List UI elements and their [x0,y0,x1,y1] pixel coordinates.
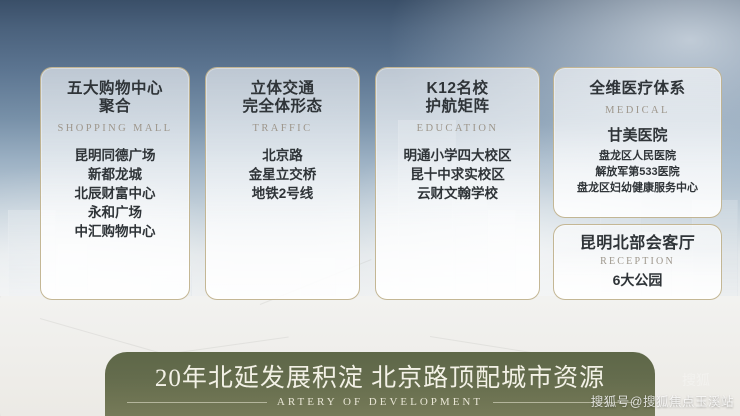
banner-headline: 20年北延发展积淀 北京路顶配城市资源 [105,358,655,394]
card-item-list: 明通小学四大校区 昆十中求实校区 云财文翰学校 [384,146,531,203]
card-item-list: 盘龙区人民医院 解放军第533医院 盘龙区妇幼健康服务中心 [562,148,713,196]
banner-subline: ARTERY OF DEVELOPMENT [277,396,483,408]
card-traffic[interactable]: 立体交通 完全体形态 TRAFFIC 北京路 金星立交桥 地铁2号线 [205,67,360,300]
card-item-list: 6大公园 [562,271,713,290]
card-subtitle: RECEPTION [562,256,713,267]
card-subtitle: MEDICAL [562,105,713,116]
card-education[interactable]: K12名校 护航矩阵 EDUCATION 明通小学四大校区 昆十中求实校区 云财… [375,67,540,300]
card-subtitle: EDUCATION [384,123,531,134]
slide-canvas: 五大购物中心 聚合 SHOPPING MALL 昆明同德广场 新都龙城 北辰财富… [0,0,740,416]
banner-subline-row: ARTERY OF DEVELOPMENT [127,396,633,408]
card-subtitle: TRAFFIC [214,123,351,134]
card-title: 昆明北部会客厅 [562,234,713,253]
card-title: 立体交通 完全体形态 [214,80,351,116]
card-medical[interactable]: 全维医疗体系 MEDICAL 甘美医院 盘龙区人民医院 解放军第533医院 盘龙… [553,67,722,218]
card-title: 五大购物中心 聚合 [49,80,181,116]
card-item-list: 北京路 金星立交桥 地铁2号线 [214,146,351,203]
card-shopping-mall[interactable]: 五大购物中心 聚合 SHOPPING MALL 昆明同德广场 新都龙城 北辰财富… [40,67,190,300]
card-reception[interactable]: 昆明北部会客厅 RECEPTION 6大公园 [553,224,722,300]
card-subtitle: SHOPPING MALL [49,123,181,134]
card-title: K12名校 护航矩阵 [384,80,531,116]
card-lead-item: 甘美医院 [562,126,713,146]
watermark-ghost: 搜狐 [682,370,710,390]
watermark: 搜狐号@搜狐焦点玉溪站 [591,391,734,410]
bottom-banner: 20年北延发展积淀 北京路顶配城市资源 ARTERY OF DEVELOPMEN… [105,352,655,416]
card-title: 全维医疗体系 [562,80,713,98]
banner-rule-left [127,402,267,403]
card-item-list: 昆明同德广场 新都龙城 北辰财富中心 永和广场 中汇购物中心 [49,146,181,241]
